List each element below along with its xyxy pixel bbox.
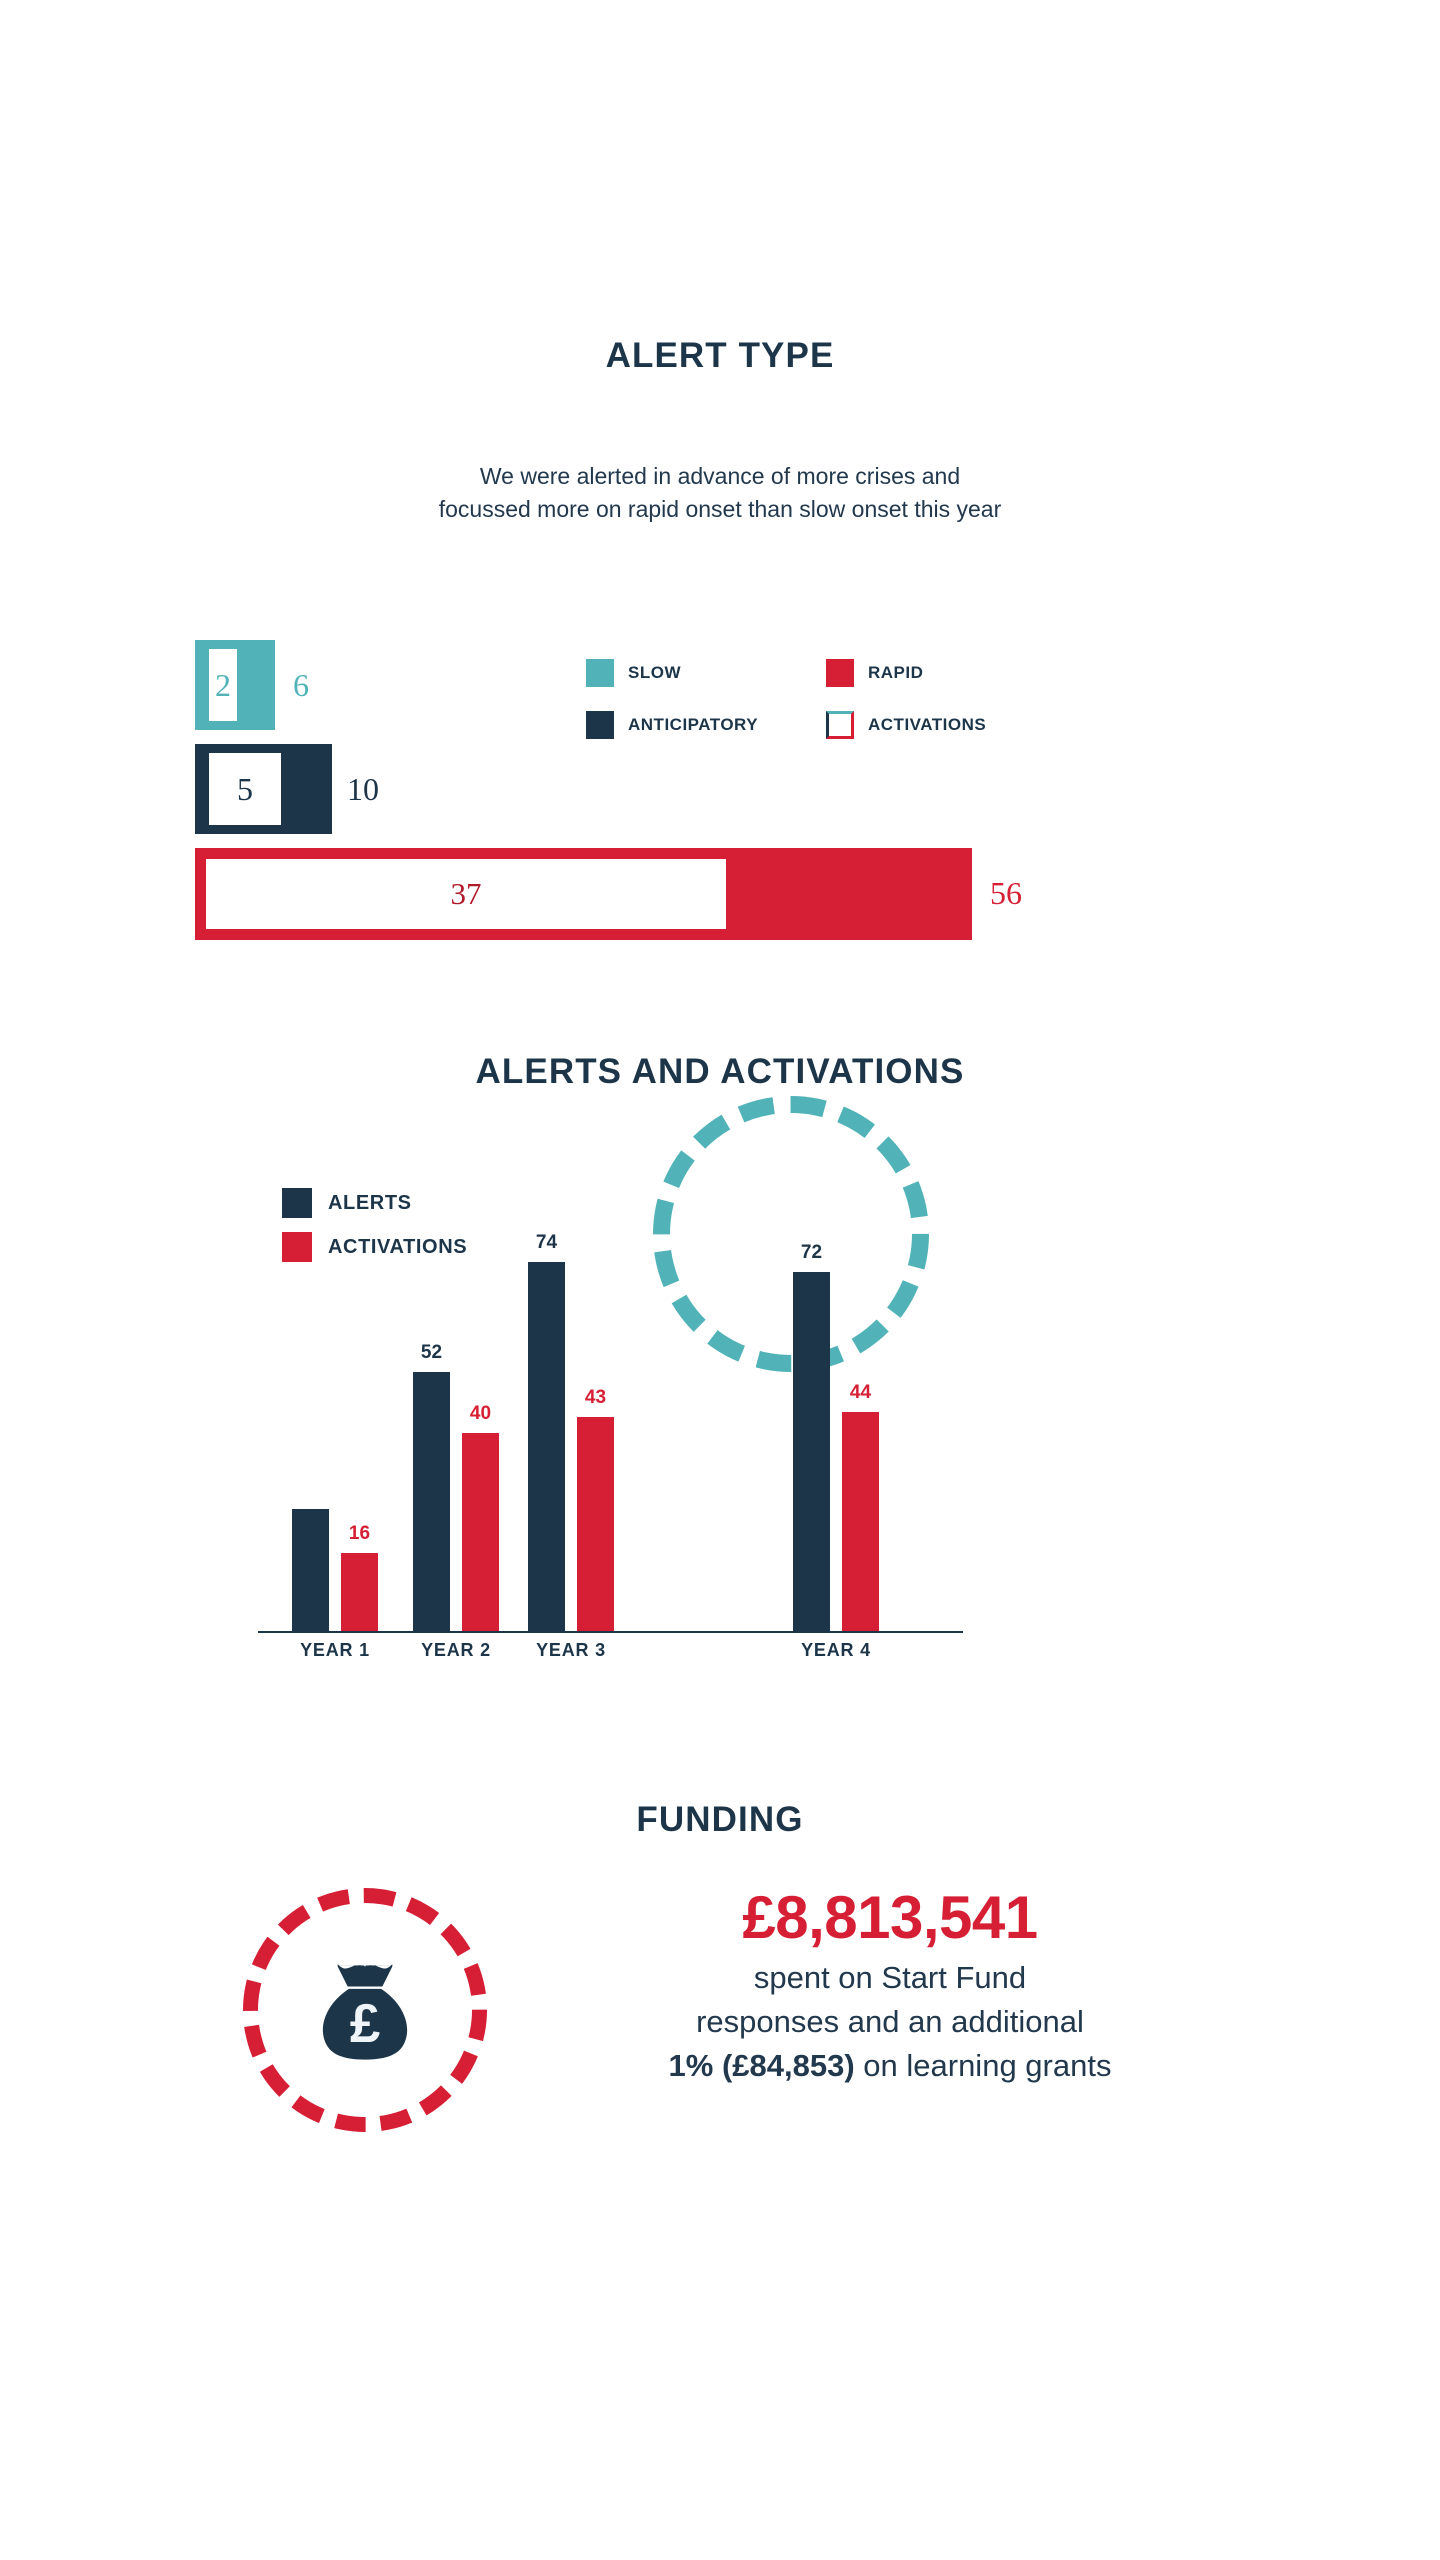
alert-bar-rapid-activations-value: 37 (206, 859, 726, 929)
x-label-year-1: YEAR 1 (300, 1640, 370, 1661)
alerts-activations-chart: ALERTS ACTIVATIONS 16 52 40 (258, 1120, 1088, 1700)
bar-alerts-year-2: 52 (413, 1372, 450, 1631)
rapid-swatch-icon (826, 659, 854, 687)
legend-label-activations: ACTIVATIONS (868, 715, 986, 735)
funding-desc-line-1: spent on Start Fund (754, 1960, 1026, 1995)
alert-bar-anticipatory-total-value: 10 (347, 771, 379, 808)
infographic-page: ALERT TYPE We were alerted in advance of… (0, 0, 1440, 2560)
bar-alerts-year-1 (292, 1509, 329, 1631)
bar-value-activations-year-2: 40 (470, 1403, 491, 1425)
funding-description: spent on Start Fund responses and an add… (540, 1956, 1240, 2088)
legend-item-activations-bars: ACTIVATIONS (282, 1232, 467, 1262)
bar-value-activations-year-1: 16 (349, 1523, 370, 1545)
alert-bar-rapid-total-value: 56 (990, 875, 1022, 912)
funding-desc-bold: 1% (£84,853) (669, 2048, 855, 2083)
bar-activations-year-2: 40 (462, 1433, 499, 1631)
bar-value-activations-year-4: 44 (850, 1382, 871, 1404)
x-label-year-3: YEAR 3 (536, 1640, 606, 1661)
alert-bar-anticipatory-activations-value: 5 (209, 753, 281, 825)
funding-badge: £ (243, 1888, 487, 2132)
funding-block: £ £8,813,541 spent on Start Fund respons… (0, 1880, 1440, 2200)
funding-text-block: £8,813,541 spent on Start Fund responses… (540, 1880, 1240, 2088)
x-label-year-4: YEAR 4 (801, 1640, 871, 1661)
slow-swatch-icon (586, 659, 614, 687)
x-axis-line (258, 1631, 963, 1633)
legend-item-anticipatory: ANTICIPATORY (586, 707, 826, 743)
money-bag-pound-icon: £ (303, 1948, 427, 2072)
legend-label-activations-bars: ACTIVATIONS (328, 1236, 467, 1259)
funding-amount: £8,813,541 (540, 1880, 1240, 1956)
alert-type-subtitle: We were alerted in advance of more crise… (0, 460, 1440, 526)
bar-alerts-year-3: 74 (528, 1262, 565, 1631)
alerts-activations-heading: ALERTS AND ACTIVATIONS (0, 1052, 1440, 1092)
bar-value-activations-year-3: 43 (585, 1387, 606, 1409)
legend-item-slow: SLOW (586, 655, 826, 691)
alert-bar-slow-activations-value: 2 (209, 649, 237, 721)
bar-activations-year-4: 44 (842, 1412, 879, 1631)
anticipatory-swatch-icon (586, 711, 614, 739)
legend-item-activations: ACTIVATIONS (826, 707, 1066, 743)
legend-label-anticipatory: ANTICIPATORY (628, 715, 758, 735)
activations-swatch-icon (826, 711, 854, 739)
bar-value-alerts-year-4: 72 (801, 1242, 822, 1264)
alerts-swatch-icon (282, 1188, 312, 1218)
legend-label-rapid: RAPID (868, 663, 923, 683)
alert-type-heading: ALERT TYPE (0, 336, 1440, 376)
bar-activations-year-1: 16 (341, 1553, 378, 1631)
bar-value-alerts-year-3: 74 (536, 1232, 557, 1254)
bar-value-alerts-year-2: 52 (421, 1342, 442, 1364)
legend-item-rapid: RAPID (826, 655, 1066, 691)
legend-label-alerts: ALERTS (328, 1192, 412, 1215)
activations-bar-swatch-icon (282, 1232, 312, 1262)
alerts-activations-legend: ALERTS ACTIVATIONS (282, 1188, 467, 1276)
funding-desc-line-3: on learning grants (855, 2048, 1112, 2083)
funding-desc-line-2: responses and an additional (696, 2004, 1084, 2039)
funding-heading: FUNDING (0, 1800, 1440, 1840)
x-label-year-2: YEAR 2 (421, 1640, 491, 1661)
alert-type-legend: SLOW RAPID ANTICIPATORY ACTIVATIONS (586, 655, 1106, 765)
alert-bar-slow-total-value: 6 (293, 667, 309, 704)
svg-text:£: £ (350, 1993, 380, 2054)
legend-label-slow: SLOW (628, 663, 681, 683)
bar-activations-year-3: 43 (577, 1417, 614, 1631)
dashed-circle-decoration-icon (653, 1096, 929, 1372)
bar-alerts-year-4: 72 (793, 1272, 830, 1631)
legend-item-alerts: ALERTS (282, 1188, 467, 1218)
